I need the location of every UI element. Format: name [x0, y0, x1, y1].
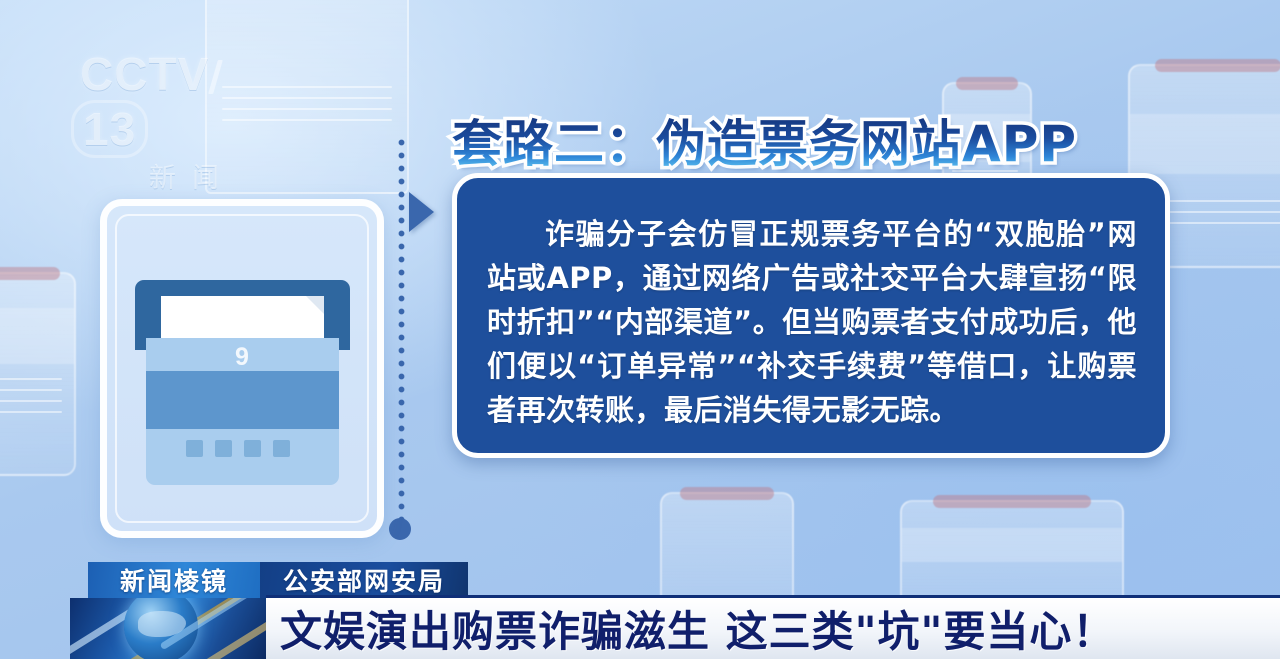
tag-bar: 新闻棱镜 公安部网安局 [88, 562, 468, 598]
logo-main-text: CCTV [80, 48, 209, 100]
timeline-dotted-line [395, 136, 407, 526]
timeline-end-dot [389, 518, 411, 540]
content-panel: 诈骗分子会仿冒正规票务平台的“双胞胎”网站或APP，通过网络广告或社交平台大肆宣… [452, 173, 1170, 458]
slide-title-fill: 套路二：伪造票务网站APP [452, 115, 1077, 173]
folder-clip-glyph: 9 [232, 345, 252, 369]
slide-title: 套路二：伪造票务网站APP 套路二：伪造票务网站APP [452, 104, 1077, 176]
tag-source: 公安部网安局 [260, 562, 468, 598]
document-folder-illustration: 9 [100, 199, 384, 538]
tag-program: 新闻棱镜 [88, 562, 260, 598]
folder-icon: 9 [135, 280, 350, 485]
logo-sub-text: 新闻 [80, 156, 290, 195]
content-body-text: 诈骗分子会仿冒正规票务平台的“双胞胎”网站或APP，通过网络广告或社交平台大肆宣… [457, 178, 1165, 432]
arrow-right-icon [409, 192, 434, 232]
bg-lines-left-edge [0, 378, 62, 422]
cctv13-logo: CCTV13 新闻 [80, 48, 290, 140]
logo-number-badge: 13 [71, 100, 148, 158]
broadcast-frame: CCTV13 新闻 9 套路二：伪造票务网站APP 套路二：伪造票务网站APP … [0, 0, 1280, 659]
headline-text: 文娱演出购票诈骗滋生 这三类"坑"要当心！ [266, 598, 1115, 659]
logo-slash [208, 60, 223, 94]
lower-third: 新闻棱镜 公安部网安局 文娱演出购票诈骗滋生 这三类"坑"要当心！ [0, 554, 1280, 659]
headline-bar: 文娱演出购票诈骗滋生 这三类"坑"要当心！ [266, 595, 1280, 659]
bg-card-left-edge [0, 272, 76, 476]
globe-graphic [70, 598, 266, 659]
